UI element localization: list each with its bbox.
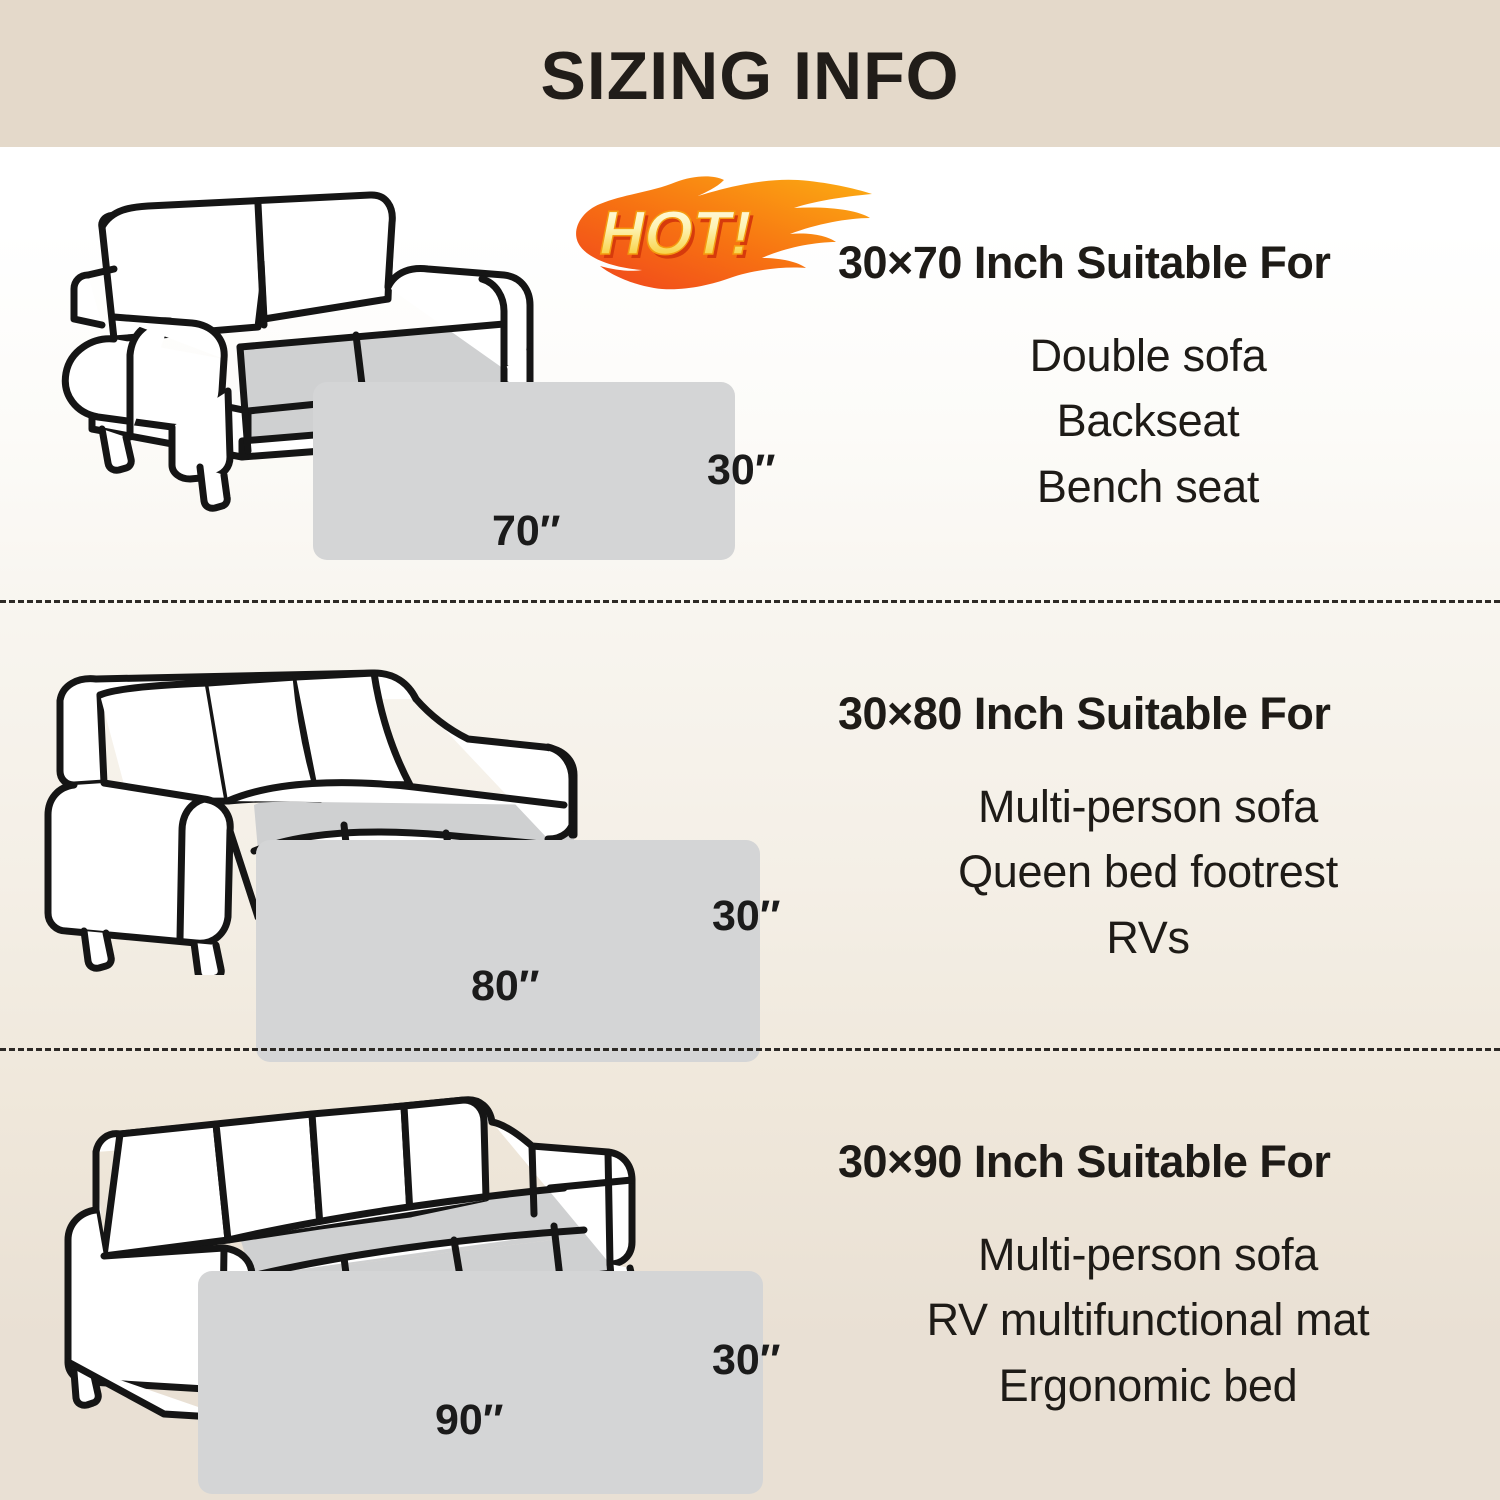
width-label-90: 90″ [435, 1396, 503, 1445]
sizing-section-30x80: 80″ 30″ 30×80 Inch Suitable For Multi-pe… [0, 600, 1500, 1048]
size-text-column-30x90: 30×90 Inch Suitable For Multi-person sof… [838, 1136, 1458, 1418]
list-item: Queen bed footrest [838, 839, 1458, 904]
hot-badge-text: HOT! [594, 199, 759, 268]
height-label-30: 30″ [707, 446, 775, 495]
list-item: Backseat [838, 388, 1458, 453]
height-label-30: 30″ [712, 1336, 780, 1385]
header-band: SIZING INFO [0, 0, 1500, 147]
hot-badge: HOT! HOT! [566, 174, 876, 294]
dimension-rect-80x30 [256, 840, 760, 1062]
page-title: SIZING INFO [541, 42, 960, 110]
sizing-info-infographic: SIZING INFO [0, 0, 1500, 1500]
width-label-70: 70″ [492, 507, 560, 556]
size-text-column-30x80: 30×80 Inch Suitable For Multi-person sof… [838, 688, 1458, 970]
size-heading-30x90: 30×90 Inch Suitable For [838, 1136, 1458, 1188]
list-item: Bench seat [838, 454, 1458, 519]
list-item: RV multifunctional mat [838, 1287, 1458, 1352]
list-item: Multi-person sofa [838, 774, 1458, 839]
list-item: Ergonomic bed [838, 1353, 1458, 1418]
uses-list-30x80: Multi-person sofa Queen bed footrest RVs [838, 774, 1458, 970]
uses-list-30x70: Double sofa Backseat Bench seat [838, 323, 1458, 519]
list-item: Multi-person sofa [838, 1222, 1458, 1287]
list-item: Double sofa [838, 323, 1458, 388]
sizing-section-30x70: HOT! HOT! 70″ 30″ 30×70 Inch Suitable Fo… [0, 147, 1500, 600]
uses-list-30x90: Multi-person sofa RV multifunctional mat… [838, 1222, 1458, 1418]
size-heading-30x70: 30×70 Inch Suitable For [838, 237, 1458, 289]
dimension-rect-90x30 [198, 1271, 763, 1494]
list-item: RVs [838, 905, 1458, 970]
height-label-30: 30″ [712, 892, 780, 941]
size-heading-30x80: 30×80 Inch Suitable For [838, 688, 1458, 740]
size-text-column-30x70: 30×70 Inch Suitable For Double sofa Back… [838, 237, 1458, 519]
width-label-80: 80″ [471, 962, 539, 1011]
sizing-section-30x90: 90″ 30″ 30×90 Inch Suitable For Multi-pe… [0, 1048, 1500, 1500]
